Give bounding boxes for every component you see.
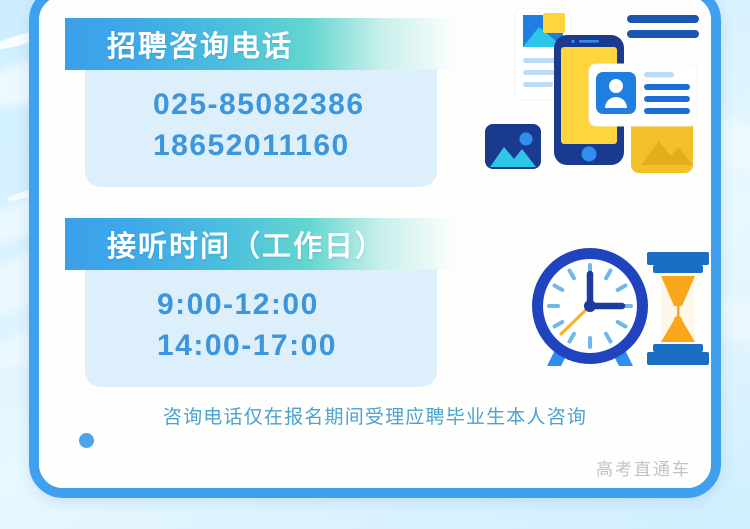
office-devices-illustration [479,2,711,192]
poster-root: 招聘咨询电话 025-85082386 18652011160 接听时间（工作日… [0,0,750,529]
section-body-phone: 025-85082386 18652011160 [85,70,437,187]
info-card: 招聘咨询电话 025-85082386 18652011160 接听时间（工作日… [29,0,721,498]
section-body-time: 9:00-12:00 14:00-17:00 [85,270,437,387]
profile-card-icon [589,64,697,126]
phone-number-landline[interactable]: 025-85082386 [153,84,437,125]
clock-hourglass-illustration [519,234,711,384]
section-title-time: 接听时间（工作日） [107,223,386,265]
service-hours-afternoon: 14:00-17:00 [157,325,437,366]
service-hours-morning: 9:00-12:00 [157,284,437,325]
hourglass-icon [647,252,709,365]
footnote-text: 咨询电话仅在报名期间受理应聘毕业生本人咨询 [39,402,711,429]
accent-bar-icon [627,15,699,23]
section-header-bar-phone: 招聘咨询电话 [65,18,457,70]
photo-icon-dark [485,124,541,169]
section-title-phone: 招聘咨询电话 [107,23,293,65]
section-recruitment-phone: 招聘咨询电话 025-85082386 18652011160 [39,18,459,187]
phone-number-mobile[interactable]: 18652011160 [153,125,437,166]
corner-dot-decoration [79,433,94,448]
section-header-bar-time: 接听时间（工作日） [65,218,457,270]
info-card-inner: 招聘咨询电话 025-85082386 18652011160 接听时间（工作日… [39,0,711,488]
clock-icon [532,248,648,366]
watermark-text: 高考直通车 [596,455,691,480]
section-service-hours: 接听时间（工作日） 9:00-12:00 14:00-17:00 [39,218,459,387]
accent-bar-icon [627,30,699,38]
